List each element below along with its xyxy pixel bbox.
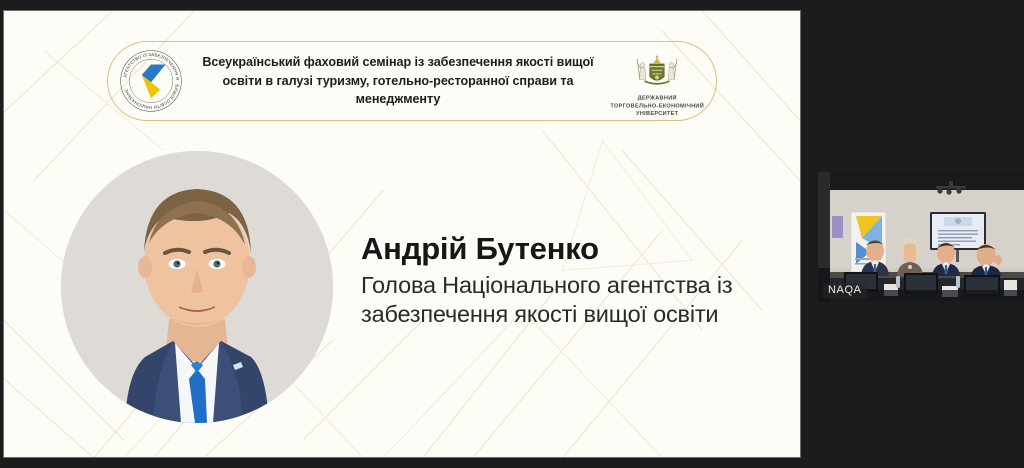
dtu-caption-line-1: ДЕРЖАВНИЙ bbox=[637, 95, 676, 101]
dtu-caption-line-2: ТОРГОВЕЛЬНО-ЕКОНОМІЧНИЙ bbox=[610, 102, 704, 108]
dtu-caption-line-3: УНІВЕРСИТЕТ bbox=[636, 110, 678, 116]
speaker-text-block: Андрій Бутенко Голова Національного аген… bbox=[361, 232, 781, 329]
participant-video-tile[interactable]: NAQA bbox=[818, 172, 1024, 302]
dtu-logo-caption: ДЕРЖАВНИЙ ТОРГОВЕЛЬНО-ЕКОНОМІЧНИЙ УНІВЕР… bbox=[610, 95, 704, 118]
screen-share-stage: АГЕНТСТВО ІЗ ЗАБЕЗПЕЧЕННЯ ЯКОСТІ ВИЩОЇ О… bbox=[0, 0, 1024, 468]
participant-name-badge: NAQA bbox=[823, 283, 867, 298]
speaker-role: Голова Національного агентства із забезп… bbox=[361, 271, 781, 329]
seminar-title: Всеукраїнський фаховий семінар із забезп… bbox=[184, 53, 612, 109]
slide-header-pill: АГЕНТСТВО ІЗ ЗАБЕЗПЕЧЕННЯ ЯКОСТІ ВИЩОЇ О… bbox=[107, 41, 717, 121]
naqa-logo-icon: АГЕНТСТВО ІЗ ЗАБЕЗПЕЧЕННЯ ЯКОСТІ ВИЩОЇ О… bbox=[118, 48, 184, 114]
speaker-name: Андрій Бутенко bbox=[361, 232, 781, 267]
speaker-portrait bbox=[61, 151, 333, 423]
dtu-logo-icon: ДЕРЖАВНИЙ ТОРГОВЕЛЬНО-ЕКОНОМІЧНИЙ УНІВЕР… bbox=[612, 45, 702, 117]
shared-slide[interactable]: АГЕНТСТВО ІЗ ЗАБЕЗПЕЧЕННЯ ЯКОСТІ ВИЩОЇ О… bbox=[3, 10, 801, 458]
